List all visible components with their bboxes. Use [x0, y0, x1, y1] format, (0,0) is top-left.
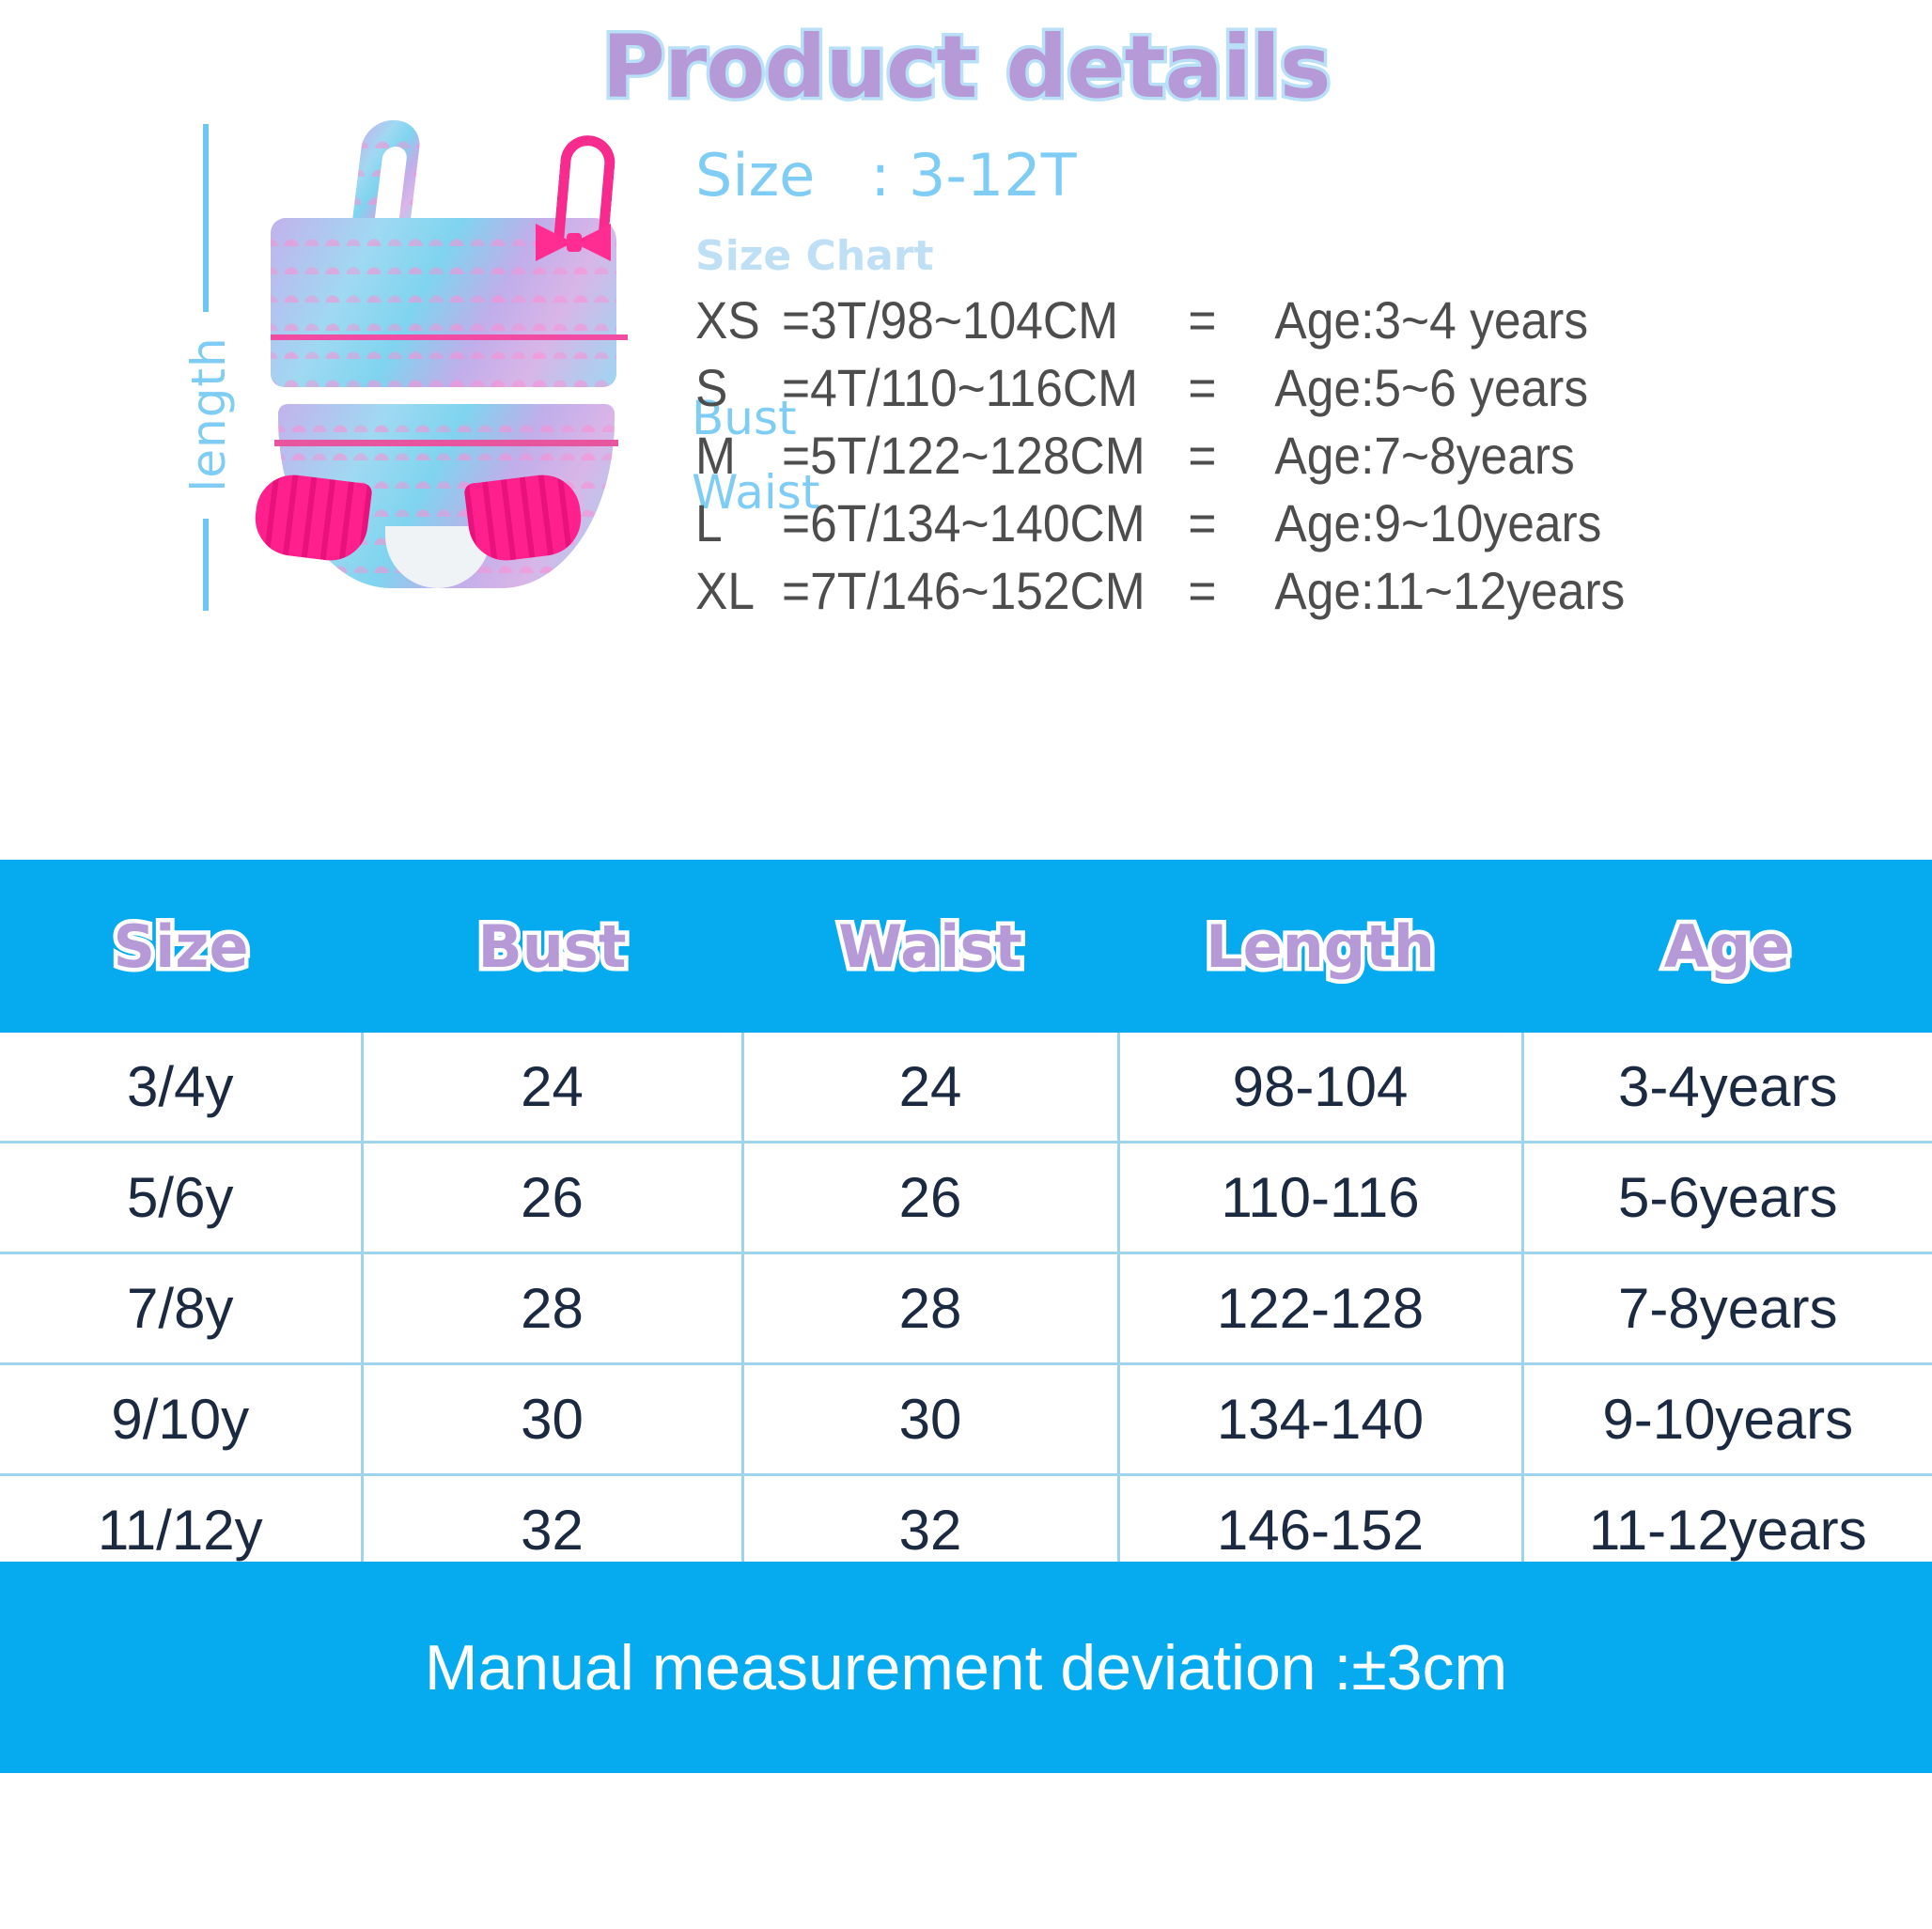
table-header-waist: Waist [742, 860, 1118, 1033]
measurement-note: Manual measurement deviation :±3cm [425, 1631, 1507, 1704]
swimsuit-illustration [216, 113, 686, 620]
cell-waist: 26 [742, 1143, 1118, 1253]
cell-bust: 30 [362, 1364, 742, 1475]
cell-length: 98-104 [1118, 1033, 1522, 1143]
size-code: M [695, 425, 782, 486]
cell-age: 7-8years [1522, 1253, 1932, 1364]
cell-length: 122-128 [1118, 1253, 1522, 1364]
size-age: Age:5~6 years [1274, 357, 1810, 418]
cell-age: 5-6years [1522, 1143, 1932, 1253]
table-row: 9/10y 30 30 134-140 9-10years [0, 1364, 1932, 1475]
size-age: Age:7~8years [1274, 425, 1810, 486]
table-header-row: Size Bust Waist Length Age [0, 860, 1932, 1033]
cell-size: 9/10y [0, 1364, 362, 1475]
size-range-line: Size : 3-12T [695, 141, 1908, 210]
size-table: Size Bust Waist Length Age 3/4y 24 24 98… [0, 860, 1932, 1584]
size-age: Age:11~12years [1274, 560, 1810, 621]
table-row: 5/6y 26 26 110-116 5-6years [0, 1143, 1932, 1253]
table-row: 3/4y 24 24 98-104 3-4years [0, 1033, 1932, 1143]
cell-bust: 24 [362, 1033, 742, 1143]
size-chart-heading: Size Chart [695, 232, 1908, 280]
cell-age: 3-4years [1522, 1033, 1932, 1143]
size-measure: =6T/134~140CM [782, 492, 1188, 553]
cell-bust: 28 [362, 1253, 742, 1364]
cell-length: 134-140 [1118, 1364, 1522, 1475]
size-measure: =7T/146~152CM [782, 560, 1188, 621]
size-equals: = [1188, 425, 1274, 486]
size-equals: = [1188, 492, 1274, 553]
table-row: 7/8y 28 28 122-128 7-8years [0, 1253, 1932, 1364]
size-chart-row: S =4T/110~116CM = Age:5~6 years [695, 357, 1811, 425]
ruffle-trim-left [251, 471, 373, 565]
table-header-age: Age [1522, 860, 1932, 1033]
cell-waist: 30 [742, 1364, 1118, 1475]
size-equals: = [1188, 560, 1274, 621]
cell-waist: 28 [742, 1253, 1118, 1364]
table-header-length: Length [1118, 860, 1522, 1033]
size-info-panel: Size : 3-12T Size Chart XS =3T/98~104CM … [695, 141, 1908, 628]
page-title: Product details [0, 17, 1932, 117]
cell-age: 9-10years [1522, 1364, 1932, 1475]
size-chart-row: XS =3T/98~104CM = Age:3~4 years [695, 289, 1811, 357]
size-chart-row: L =6T/134~140CM = Age:9~10years [695, 492, 1811, 560]
size-chart-row: XL =7T/146~152CM = Age:11~12years [695, 560, 1811, 628]
size-chart-rows: XS =3T/98~104CM = Age:3~4 years S =4T/11… [695, 289, 1908, 628]
size-equals: = [1188, 289, 1274, 350]
size-measure: =4T/110~116CM [782, 357, 1188, 418]
length-measure-line-top [203, 124, 209, 312]
cell-length: 110-116 [1118, 1143, 1522, 1253]
cell-size: 7/8y [0, 1253, 362, 1364]
size-measure: =3T/98~104CM [782, 289, 1188, 350]
waist-measure-line [274, 440, 618, 446]
size-code: XL [695, 560, 782, 621]
size-code: L [695, 492, 782, 553]
cell-waist: 24 [742, 1033, 1118, 1143]
length-measure-line-bottom [203, 519, 209, 611]
size-measure: =5T/122~128CM [782, 425, 1188, 486]
size-equals: = [1188, 357, 1274, 418]
cell-size: 5/6y [0, 1143, 362, 1253]
cell-size: 3/4y [0, 1033, 362, 1143]
product-image: length Bust Waist [160, 113, 686, 620]
size-age: Age:3~4 years [1274, 289, 1810, 350]
cell-bust: 26 [362, 1143, 742, 1253]
footer-band: Manual measurement deviation :±3cm [0, 1562, 1932, 1773]
bust-measure-line [271, 334, 628, 340]
table-header-size: Size [0, 860, 362, 1033]
bow-icon [536, 224, 611, 261]
size-age: Age:9~10years [1274, 492, 1810, 553]
size-code: XS [695, 289, 782, 350]
table-header-bust: Bust [362, 860, 742, 1033]
size-code: S [695, 357, 782, 418]
size-chart-row: M =5T/122~128CM = Age:7~8years [695, 425, 1811, 492]
